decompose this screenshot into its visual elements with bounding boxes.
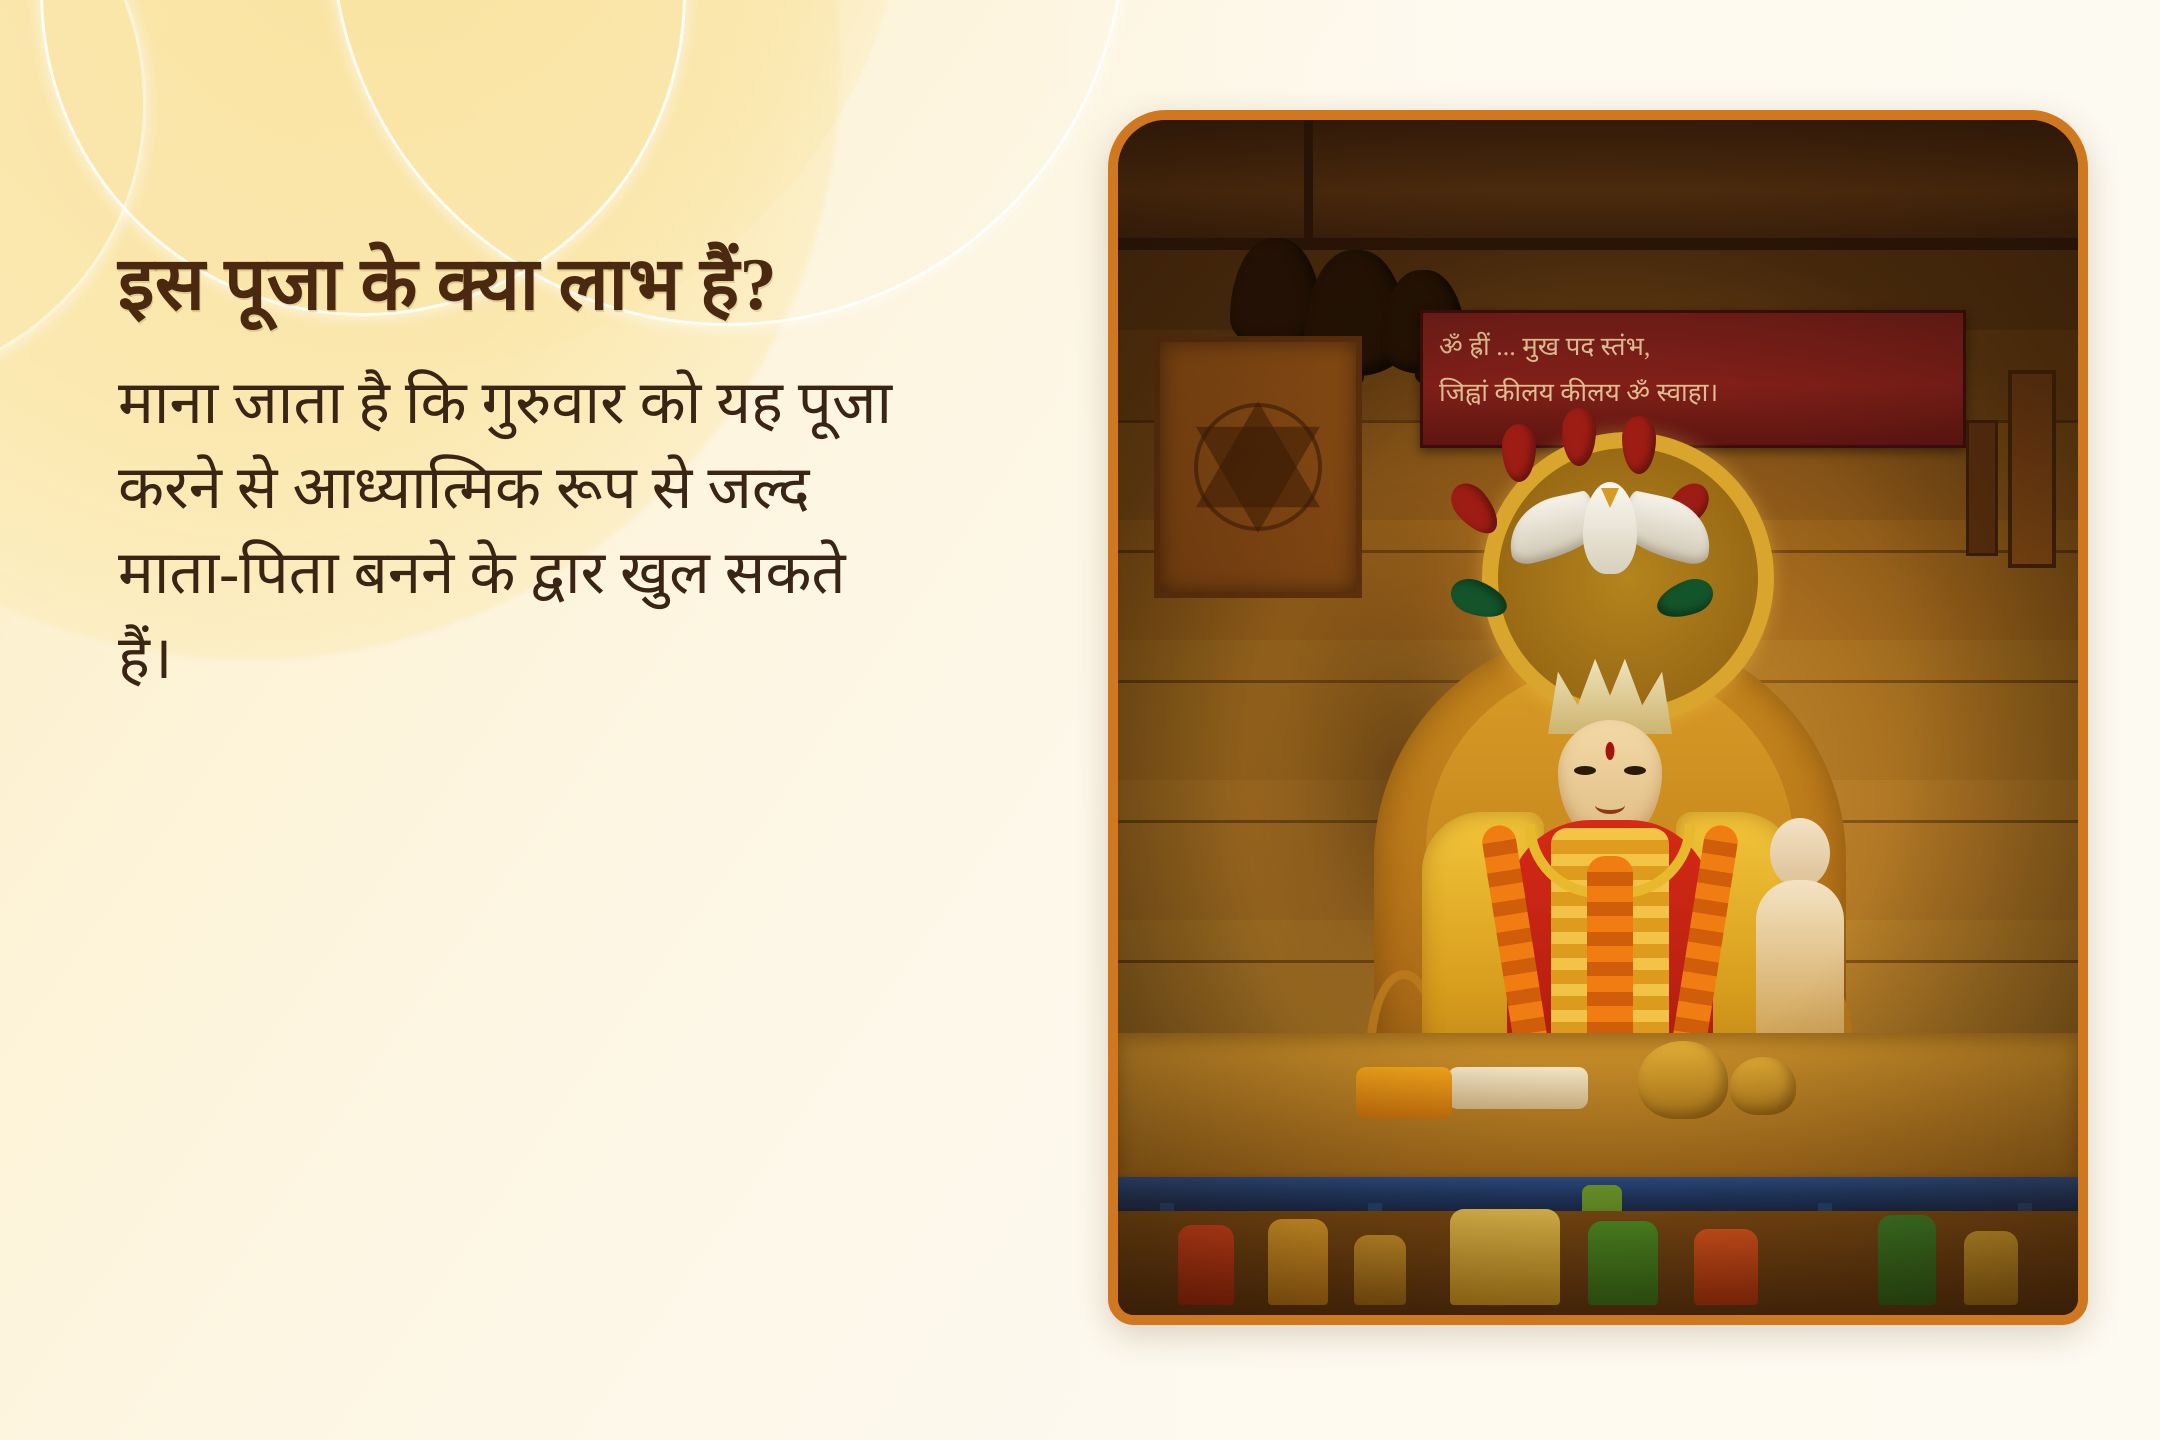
- plaque-line-1: ॐ ह्रीं ... मुख पद स्तंभ,: [1439, 327, 1953, 367]
- lower-offering: [1694, 1229, 1758, 1305]
- lower-offering: [1354, 1235, 1406, 1305]
- lower-offering: [1178, 1225, 1234, 1305]
- infographic-card: इस पूजा के क्या लाभ हैं? माना जाता है कि…: [0, 0, 2160, 1440]
- temple-photo: ॐ ह्रीं ... मुख पद स्तंभ, जिह्वां कीलय क…: [1118, 120, 2078, 1315]
- text-column: इस पूजा के क्या लाभ हैं? माना जाता है कि…: [118, 244, 1018, 702]
- deity-eye-left: [1574, 766, 1596, 775]
- bell-rod: [1304, 120, 1313, 240]
- star-mandala-panel: [1154, 336, 1362, 598]
- offering-pot: [1638, 1041, 1728, 1119]
- right-wall-panel: [2008, 370, 2056, 568]
- lower-offering: [1878, 1215, 1936, 1305]
- plaque-line-2: जिह्वां कीलय कीलय ॐ स्वाहा।: [1439, 373, 1953, 413]
- offering-flowers: [1356, 1067, 1452, 1119]
- page-title: इस पूजा के क्या लाभ हैं?: [118, 244, 1018, 327]
- lower-offering: [1964, 1231, 2018, 1305]
- temple-ceiling: [1118, 120, 2078, 248]
- deity-eye-right: [1624, 766, 1646, 775]
- lower-deity-statue: [1450, 1209, 1560, 1305]
- lower-offering: [1588, 1221, 1658, 1305]
- offering-tray: [1448, 1067, 1588, 1109]
- attendant-figure: [1752, 818, 1848, 1048]
- deity-smile: [1595, 796, 1625, 814]
- altar-platform: [1118, 1033, 2078, 1183]
- attendant-head: [1770, 818, 1830, 888]
- offering-pot: [1730, 1057, 1796, 1115]
- body-paragraph: माना जाता है कि गुरुवार को यह पूजा करने …: [118, 361, 908, 702]
- swan-beak: [1601, 488, 1619, 508]
- right-wall-panel-small: [1966, 420, 1998, 556]
- swan-emblem-icon: [1515, 474, 1705, 604]
- tilak-mark: [1606, 742, 1615, 760]
- attendant-body: [1756, 880, 1844, 1050]
- lower-offering: [1268, 1219, 1328, 1305]
- temple-photo-frame: ॐ ह्रीं ... मुख पद स्तंभ, जिह्वां कीलय क…: [1108, 110, 2088, 1325]
- star-mandala-icon: [1184, 393, 1332, 541]
